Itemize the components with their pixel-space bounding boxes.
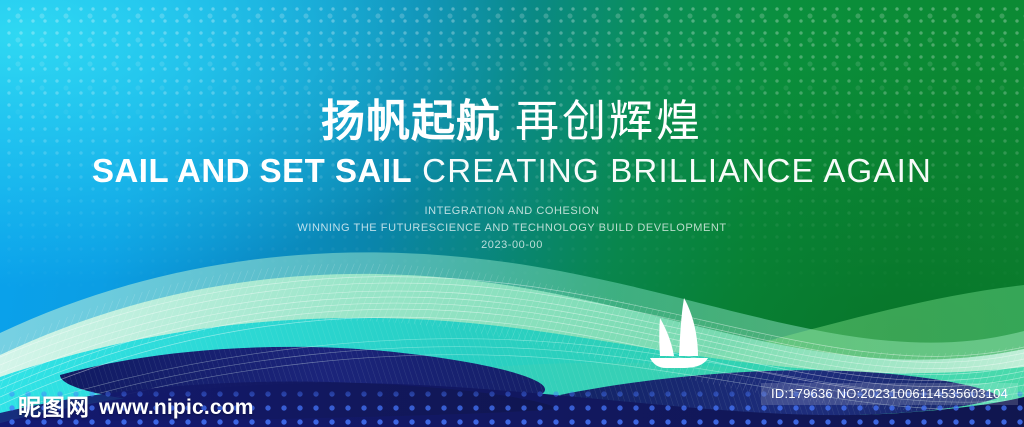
subtitle-lines: INTEGRATION AND COHESION WINNING THE FUT… <box>0 203 1024 254</box>
watermark-brand-cn: 昵图网 <box>18 396 90 419</box>
poster-canvas: 扬帆起航再创辉煌 SAIL AND SET SAILCREATING BRILL… <box>0 0 1024 427</box>
title-chinese-bold: 扬帆起航 <box>321 97 501 146</box>
image-id-plate: ID:179636 NO:20231006114535603104 <box>761 383 1018 405</box>
title-chinese: 扬帆起航再创辉煌 <box>0 100 1024 145</box>
title-english-light: CREATING BRILLIANCE AGAIN <box>422 152 932 189</box>
title-english: SAIL AND SET SAILCREATING BRILLIANCE AGA… <box>0 154 1024 189</box>
watermark-url: www.nipic.com <box>99 397 254 418</box>
subtitle-line-2: WINNING THE FUTURESCIENCE AND TECHNOLOGY… <box>0 220 1024 237</box>
subtitle-date: 2023-00-00 <box>0 237 1024 254</box>
subtitle-line-1: INTEGRATION AND COHESION <box>0 203 1024 220</box>
title-chinese-light: 再创辉煌 <box>515 97 703 146</box>
headline-block: 扬帆起航再创辉煌 SAIL AND SET SAILCREATING BRILL… <box>0 100 1024 254</box>
title-english-bold: SAIL AND SET SAIL <box>92 152 412 189</box>
sailboat-icon <box>636 296 720 370</box>
watermark: 昵图网 www.nipic.com <box>18 396 254 419</box>
